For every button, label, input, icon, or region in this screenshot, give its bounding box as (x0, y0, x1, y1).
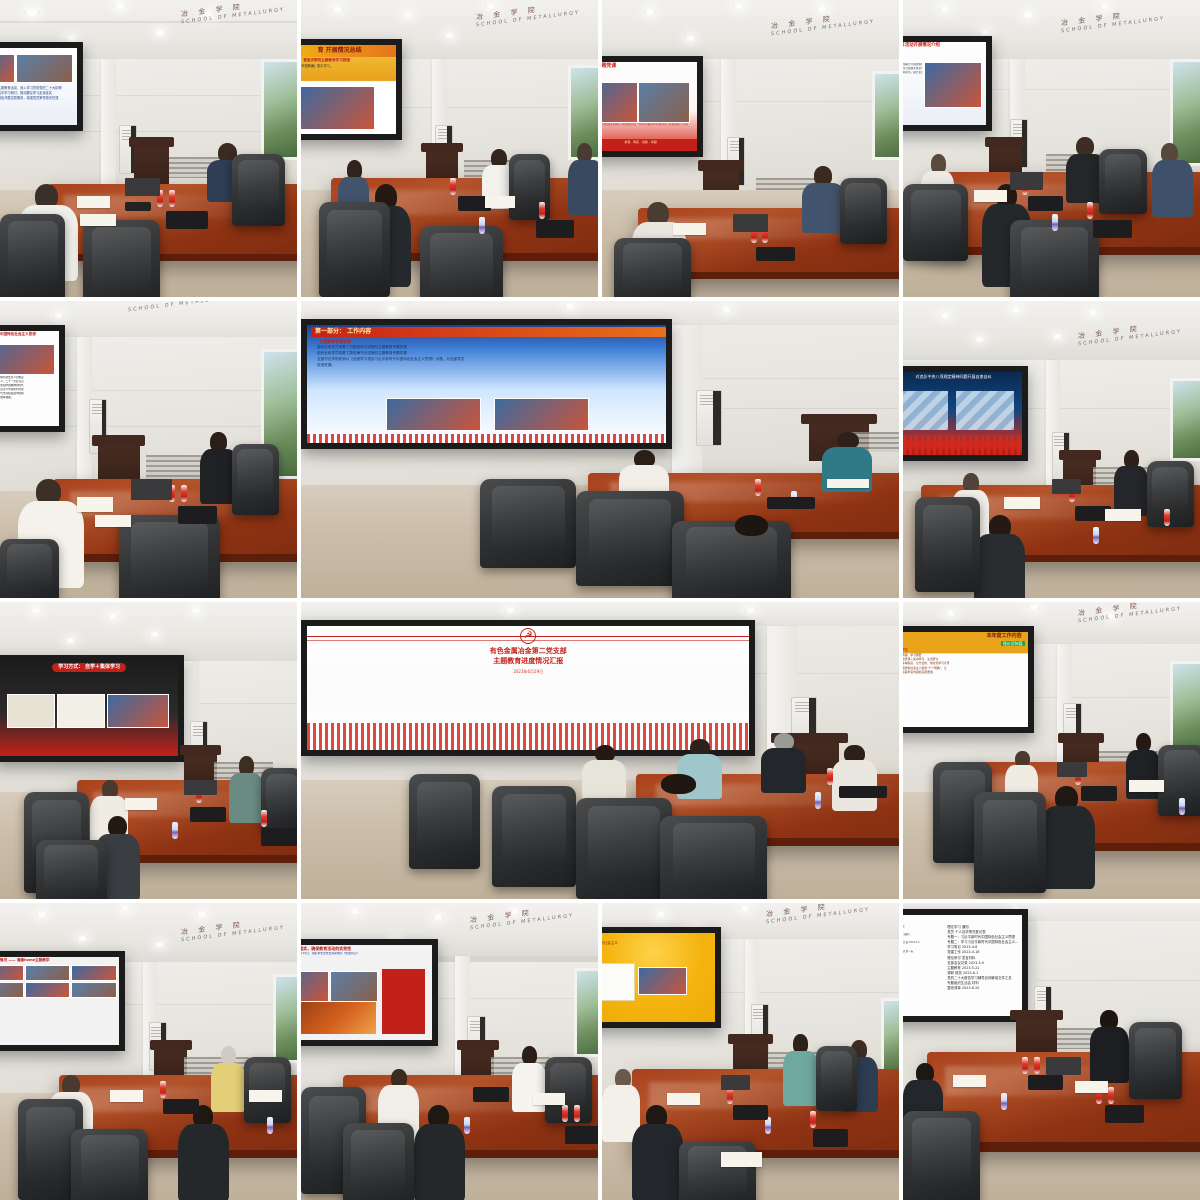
projection-screen: 时代中国特色的社会主义 (602, 927, 721, 1028)
slide-content: 扎实开展主题教育活动，深入学习贯彻党的二十大精神 组织党员集中学习研讨，推动理论… (0, 48, 77, 125)
slide-title: 思路、狠抓落实，确保教育活动的实效性 (301, 945, 432, 952)
slide-footer: 求真 · 笃实 · 创新 · 奉献 (602, 139, 697, 151)
projection-screen: 第一部分： 工作内容 主题教育专题党课 组织全体党员观看了冯夏庭校长讲授的主题教… (301, 319, 672, 450)
slide-bullet: 主题教育专题党课 (307, 337, 666, 344)
projection-screen: 本年度工作内容 推进策略 理论武装篇 略1： 集中学习 学习内容：专题摘编、学习… (903, 626, 1034, 733)
projection-screen: 有色金属冶金第二党支部 主题教育进度情况汇报 2023年6月29日 (301, 620, 755, 757)
person-attendee (576, 745, 648, 804)
slide-title: 主题教育完成情况 —— 清廉home主题教学 (0, 957, 119, 964)
collage-cell-r3c1[interactable]: 学习方式： 自学＋集体学习 (0, 602, 297, 899)
slide-title: 育 开展情况总结 (301, 45, 396, 57)
slide-line: 讲授党课。 (317, 363, 660, 369)
collage-cell-r2c1[interactable]: SCHOOL OF METALLURGY 习近平新时代中国特色社会主义思想 习近… (0, 301, 297, 598)
file-entry: 自学材料汇总 (903, 925, 905, 928)
collage-cell-r2c2[interactable]: 第一部分： 工作内容 主题教育专题党课 组织全体党员观看了冯夏庭校长讲授的主题教… (301, 301, 899, 598)
projection-screen: 习近平新时代中国特色社会主义思想 习近平新时代中国特色社会主义思想是 当代中国马… (0, 325, 65, 432)
podium (134, 137, 170, 185)
projection-screen: 学习方式： 自学＋集体学习 (0, 655, 184, 762)
party-emblem-icon (520, 628, 536, 644)
person-attendee (755, 733, 827, 792)
slide-title-line2: 主题教育进度情况汇报 (307, 656, 749, 667)
slide-title: 主题党日活动开展情况介绍 (903, 42, 986, 50)
file-entry: 党章 党规党纪汇编 2023-3-1 (903, 941, 920, 944)
file-entry: 学习笔记（扫描件） (903, 933, 912, 936)
collage-cell-r3c2[interactable]: 有色金属冶金第二党支部 主题教育进度情况汇报 2023年6月29日 (301, 602, 899, 899)
projection-screen: 思路、狠抓落实，确保教育活动的实效性 工作 – 2023年3月29日，组织本支部… (301, 939, 438, 1046)
file-entry: 整改清单 2023-6-20 (947, 986, 1019, 991)
collage-cell-r4c3[interactable]: 冶 金 学 院 SCHOOL OF METALLURGY 时代中国特色的社会主义 (602, 903, 899, 1200)
slide-title: 听好专题党课 (602, 62, 697, 71)
projection-screen: 对违反中央八项规定精神问题开展自查自纠 (903, 366, 1028, 461)
projection-screen: 听好专题党课 5月17日集中学习校领导讲授的《深刻领悟习近平新时代中国特色社会主… (602, 56, 703, 157)
collage-cell-r4c2[interactable]: 冶 金 学 院 SCHOOL OF METALLURGY 思路、狠抓落实，确保教… (301, 903, 598, 1200)
collage-cell-r1c1[interactable]: 冶 金 学 院 SCHOOL OF METALLURGY 扎实开展主题教育活动，… (0, 0, 297, 297)
slide-line: 会主义思想专题摘编》集中学习。 (301, 64, 394, 68)
chair (232, 154, 285, 225)
slide-title-line1: 有色金属冶金第二党支部 (307, 646, 749, 657)
slide-line: 工作 – 2023年3月29日，组织本支部党员观看电影《热血阿山》 (301, 952, 430, 956)
collage-cell-r4c1[interactable]: 冶 金 学 院 SCHOOL OF METALLURGY 主题教育完成情况 ——… (0, 903, 297, 1200)
slide-title: 本年度工作内容 (903, 632, 1028, 640)
projection-screen: 主题党日活动开展情况介绍 日上午，各支部联合开展主题党日活动，组织 党员走进实验… (903, 36, 992, 131)
person-attendee (720, 515, 804, 598)
slide-line: 强了党员的使命担当，提升主题教育实效。 (903, 71, 922, 75)
file-entry: 习近平著作选读 第一卷 (903, 950, 913, 953)
collage-cell-r1c3[interactable]: 冶 金 学 院 SCHOOL OF METALLURGY 听好专题党课 5月17… (602, 0, 899, 297)
slide-line: 5月24日集中学习党组书记《在新征程上大力弘扬伟大建党精神凝聚奋进力量》党课 (638, 123, 688, 126)
slide-badge: 理论武装篇 (1001, 641, 1025, 646)
photo-collage: 冶 金 学 院 SCHOOL OF METALLURGY 扎实开展主题教育活动，… (0, 0, 1200, 1200)
collage-cell-r3c3[interactable]: 冶 金 学 院 SCHOOL OF METALLURGY 本年度工作内容 推进策… (903, 602, 1200, 899)
slide-photo-grid (0, 963, 119, 1000)
slide-title: 对违反中央八项规定精神问题开展自查自纠 (903, 372, 1022, 379)
slide-title: 自学情况 (903, 915, 1022, 923)
person-attendee (568, 143, 598, 214)
slide-date: 2023年6月29日 (307, 669, 749, 674)
slide-line: 习相结合，营造浓郁的主题教育学习氛围 (301, 58, 394, 63)
slide-title: 学习方式： 自学＋集体学习 (52, 663, 126, 672)
collage-cell-r2c3[interactable]: 冶 金 学 院 SCHOOL OF METALLURGY 对违反中央八项规定精神… (903, 301, 1200, 598)
slide-title: 习近平新时代中国特色社会主义思想 (0, 331, 59, 338)
collage-cell-r1c4[interactable]: 冶 金 学 院 SCHOOL OF METALLURGY 主题党日活动开展情况介… (903, 0, 1200, 297)
person-attendee (648, 774, 732, 851)
projection-screen: 主题教育完成情况 —— 清廉home主题教学 (0, 951, 125, 1052)
collage-cell-r1c2[interactable]: 冶 金 学 院 SCHOOL OF METALLURGY 育 开展情况总结 习相… (301, 0, 598, 297)
slide-title: 时代中国特色的社会主义 (602, 933, 715, 946)
projection-screen: 育 开展情况总结 习相结合，营造浓郁的主题教育学习氛围 会主义思想专题摘编》集中… (301, 39, 402, 140)
projection-screen: 自学情况 自学材料汇总 学习笔记（扫描件） 党章 党规党纪汇编 2023-3-1… (903, 909, 1028, 1022)
person-attendee (827, 745, 899, 810)
slide-line: 色社会主义提供了根本遵循。 (0, 396, 56, 400)
person-attendee (974, 515, 1039, 598)
slide-line: 结合专业特色开展志愿服务，增强党员荣誉感责任感 (0, 96, 74, 101)
meeting-room-scene: 冶 金 学 院 SCHOOL OF METALLURGY 扎实开展主题教育活动，… (0, 0, 297, 297)
slide-line: 广大党员深刻把握其丰富内涵和实践要求。 (903, 670, 1025, 674)
projection-screen: 扎实开展主题教育活动，深入学习贯彻党的二十大精神 组织党员集中学习研讨，推动理论… (0, 42, 83, 131)
person-attendee (1152, 143, 1200, 214)
person-attendee (1040, 786, 1111, 887)
slide-title: 第一部分： 工作内容 (311, 327, 666, 337)
collage-cell-r4c4[interactable]: 自学情况 自学材料汇总 学习笔记（扫描件） 党章 党规党纪汇编 2023-3-1… (903, 903, 1200, 1200)
person-attendee (178, 1105, 243, 1200)
slide-line: 5月17日集中学习校领导讲授的《深刻领悟习近平新时代中国特色社会主义思想的真理伟… (602, 123, 636, 126)
